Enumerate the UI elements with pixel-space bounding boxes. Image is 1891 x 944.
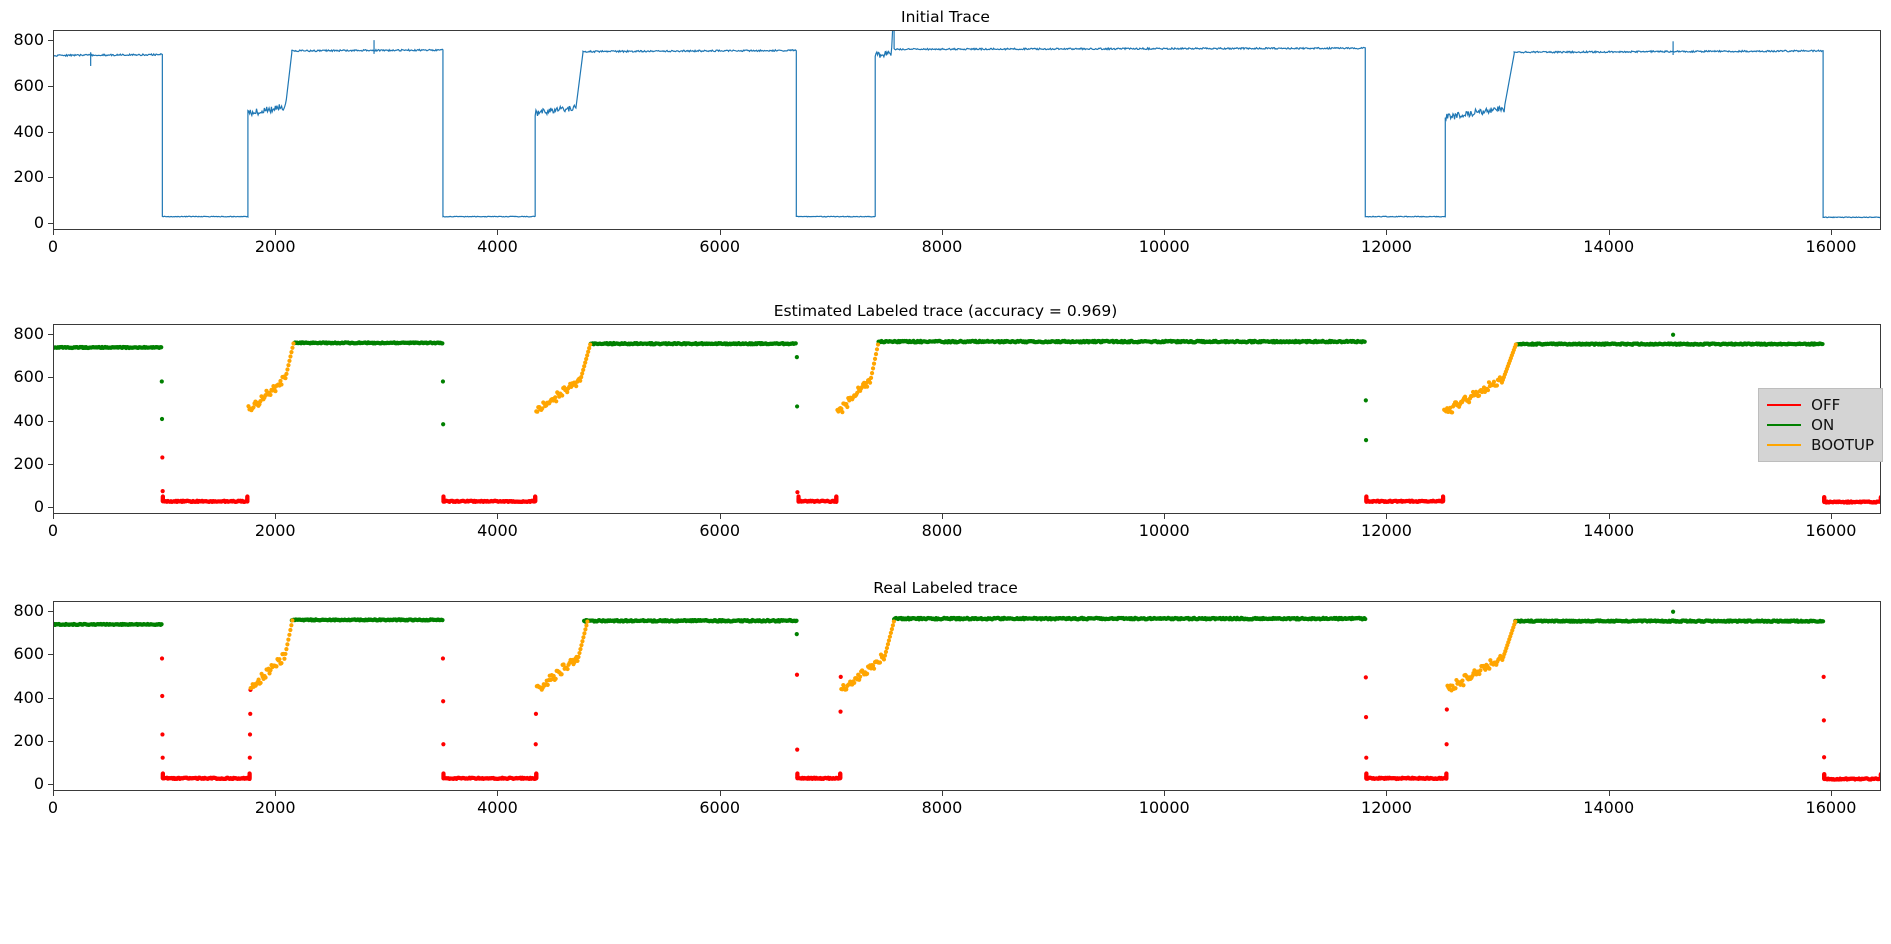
y-tick-mark <box>48 464 53 465</box>
axes-initial-trace <box>53 30 1881 230</box>
y-tick-label: 800 <box>0 603 44 619</box>
y-tick-mark <box>48 177 53 178</box>
real-scatter-plot <box>54 602 1881 791</box>
x-tick-label: 2000 <box>215 239 335 255</box>
y-tick-mark <box>48 698 53 699</box>
legend-swatch-bootup <box>1767 444 1801 446</box>
legend-box[interactable]: OFF ON BOOTUP <box>1758 388 1883 462</box>
x-tick-label: 6000 <box>660 523 780 539</box>
x-tick-mark <box>275 791 276 796</box>
x-tick-label: 0 <box>0 239 113 255</box>
y-tick-mark <box>48 611 53 612</box>
axes-estimated-labeled-trace <box>53 324 1881 514</box>
x-tick-mark <box>1164 791 1165 796</box>
x-tick-label: 2000 <box>215 523 335 539</box>
x-tick-mark <box>1609 791 1610 796</box>
x-tick-label: 16000 <box>1771 523 1891 539</box>
x-tick-label: 8000 <box>882 800 1002 816</box>
matplotlib-figure: Initial Trace 02004006008000200040006000… <box>0 0 1891 944</box>
y-tick-mark <box>48 86 53 87</box>
x-tick-label: 10000 <box>1104 239 1224 255</box>
plot-title-real-labeled-trace: Real Labeled trace <box>0 579 1891 597</box>
y-tick-mark <box>48 334 53 335</box>
trace-line-plot <box>54 31 1881 230</box>
y-tick-label: 200 <box>0 733 44 749</box>
y-tick-mark <box>48 132 53 133</box>
legend-item-off[interactable]: OFF <box>1767 395 1874 415</box>
legend-swatch-off <box>1767 404 1801 406</box>
y-tick-mark <box>48 654 53 655</box>
x-tick-mark <box>1386 230 1387 235</box>
x-tick-label: 4000 <box>437 523 557 539</box>
y-tick-label: 400 <box>0 413 44 429</box>
y-tick-label: 0 <box>0 215 44 231</box>
subplot-estimated-labeled-trace: Estimated Labeled trace (accuracy = 0.96… <box>0 294 1891 571</box>
x-tick-label: 10000 <box>1104 800 1224 816</box>
x-tick-mark <box>1386 791 1387 796</box>
x-tick-mark <box>275 514 276 519</box>
y-tick-label: 600 <box>0 646 44 662</box>
y-tick-label: 800 <box>0 326 44 342</box>
subplot-initial-trace: Initial Trace 02004006008000200040006000… <box>0 0 1891 294</box>
x-tick-mark <box>942 791 943 796</box>
x-tick-label: 10000 <box>1104 523 1224 539</box>
x-tick-mark <box>53 791 54 796</box>
x-tick-mark <box>53 514 54 519</box>
x-tick-mark <box>720 514 721 519</box>
x-tick-mark <box>720 230 721 235</box>
x-tick-mark <box>1831 230 1832 235</box>
x-tick-label: 14000 <box>1549 239 1669 255</box>
x-tick-mark <box>275 230 276 235</box>
x-tick-label: 2000 <box>215 800 335 816</box>
x-tick-mark <box>942 514 943 519</box>
estimated-scatter-plot <box>54 325 1881 514</box>
x-tick-mark <box>1164 514 1165 519</box>
x-tick-mark <box>497 514 498 519</box>
x-tick-label: 8000 <box>882 239 1002 255</box>
x-tick-mark <box>1386 514 1387 519</box>
x-tick-label: 16000 <box>1771 239 1891 255</box>
y-tick-mark <box>48 40 53 41</box>
x-tick-label: 12000 <box>1326 523 1446 539</box>
x-tick-mark <box>1164 230 1165 235</box>
x-tick-label: 6000 <box>660 239 780 255</box>
y-tick-mark <box>48 223 53 224</box>
x-tick-mark <box>497 230 498 235</box>
plot-title-initial-trace: Initial Trace <box>0 8 1891 26</box>
legend-label-bootup: BOOTUP <box>1811 436 1874 454</box>
y-tick-mark <box>48 741 53 742</box>
legend-label-off: OFF <box>1811 396 1840 414</box>
legend-label-on: ON <box>1811 416 1834 434</box>
x-tick-mark <box>497 791 498 796</box>
y-tick-label: 600 <box>0 369 44 385</box>
y-tick-label: 200 <box>0 169 44 185</box>
x-tick-mark <box>1609 514 1610 519</box>
x-tick-label: 0 <box>0 800 113 816</box>
x-tick-mark <box>1831 514 1832 519</box>
y-tick-label: 0 <box>0 499 44 515</box>
y-tick-label: 0 <box>0 776 44 792</box>
x-tick-label: 4000 <box>437 800 557 816</box>
x-tick-label: 6000 <box>660 800 780 816</box>
plot-title-estimated-labeled-trace: Estimated Labeled trace (accuracy = 0.96… <box>0 302 1891 320</box>
x-tick-label: 14000 <box>1549 523 1669 539</box>
x-tick-label: 16000 <box>1771 800 1891 816</box>
x-tick-label: 4000 <box>437 239 557 255</box>
x-tick-label: 14000 <box>1549 800 1669 816</box>
legend-item-on[interactable]: ON <box>1767 415 1874 435</box>
x-tick-mark <box>720 791 721 796</box>
x-tick-label: 8000 <box>882 523 1002 539</box>
legend-swatch-on <box>1767 424 1801 426</box>
x-tick-mark <box>942 230 943 235</box>
y-tick-mark <box>48 784 53 785</box>
axes-real-labeled-trace <box>53 601 1881 791</box>
x-tick-label: 12000 <box>1326 800 1446 816</box>
y-tick-mark <box>48 377 53 378</box>
x-tick-mark <box>1831 791 1832 796</box>
y-tick-mark <box>48 421 53 422</box>
legend-item-bootup[interactable]: BOOTUP <box>1767 435 1874 455</box>
y-tick-mark <box>48 507 53 508</box>
x-tick-label: 0 <box>0 523 113 539</box>
x-tick-mark <box>53 230 54 235</box>
subplot-real-labeled-trace: Real Labeled trace 020040060080002000400… <box>0 571 1891 944</box>
y-tick-label: 400 <box>0 124 44 140</box>
y-tick-label: 400 <box>0 690 44 706</box>
y-tick-label: 200 <box>0 456 44 472</box>
x-tick-label: 12000 <box>1326 239 1446 255</box>
x-tick-mark <box>1609 230 1610 235</box>
y-tick-label: 600 <box>0 78 44 94</box>
y-tick-label: 800 <box>0 32 44 48</box>
